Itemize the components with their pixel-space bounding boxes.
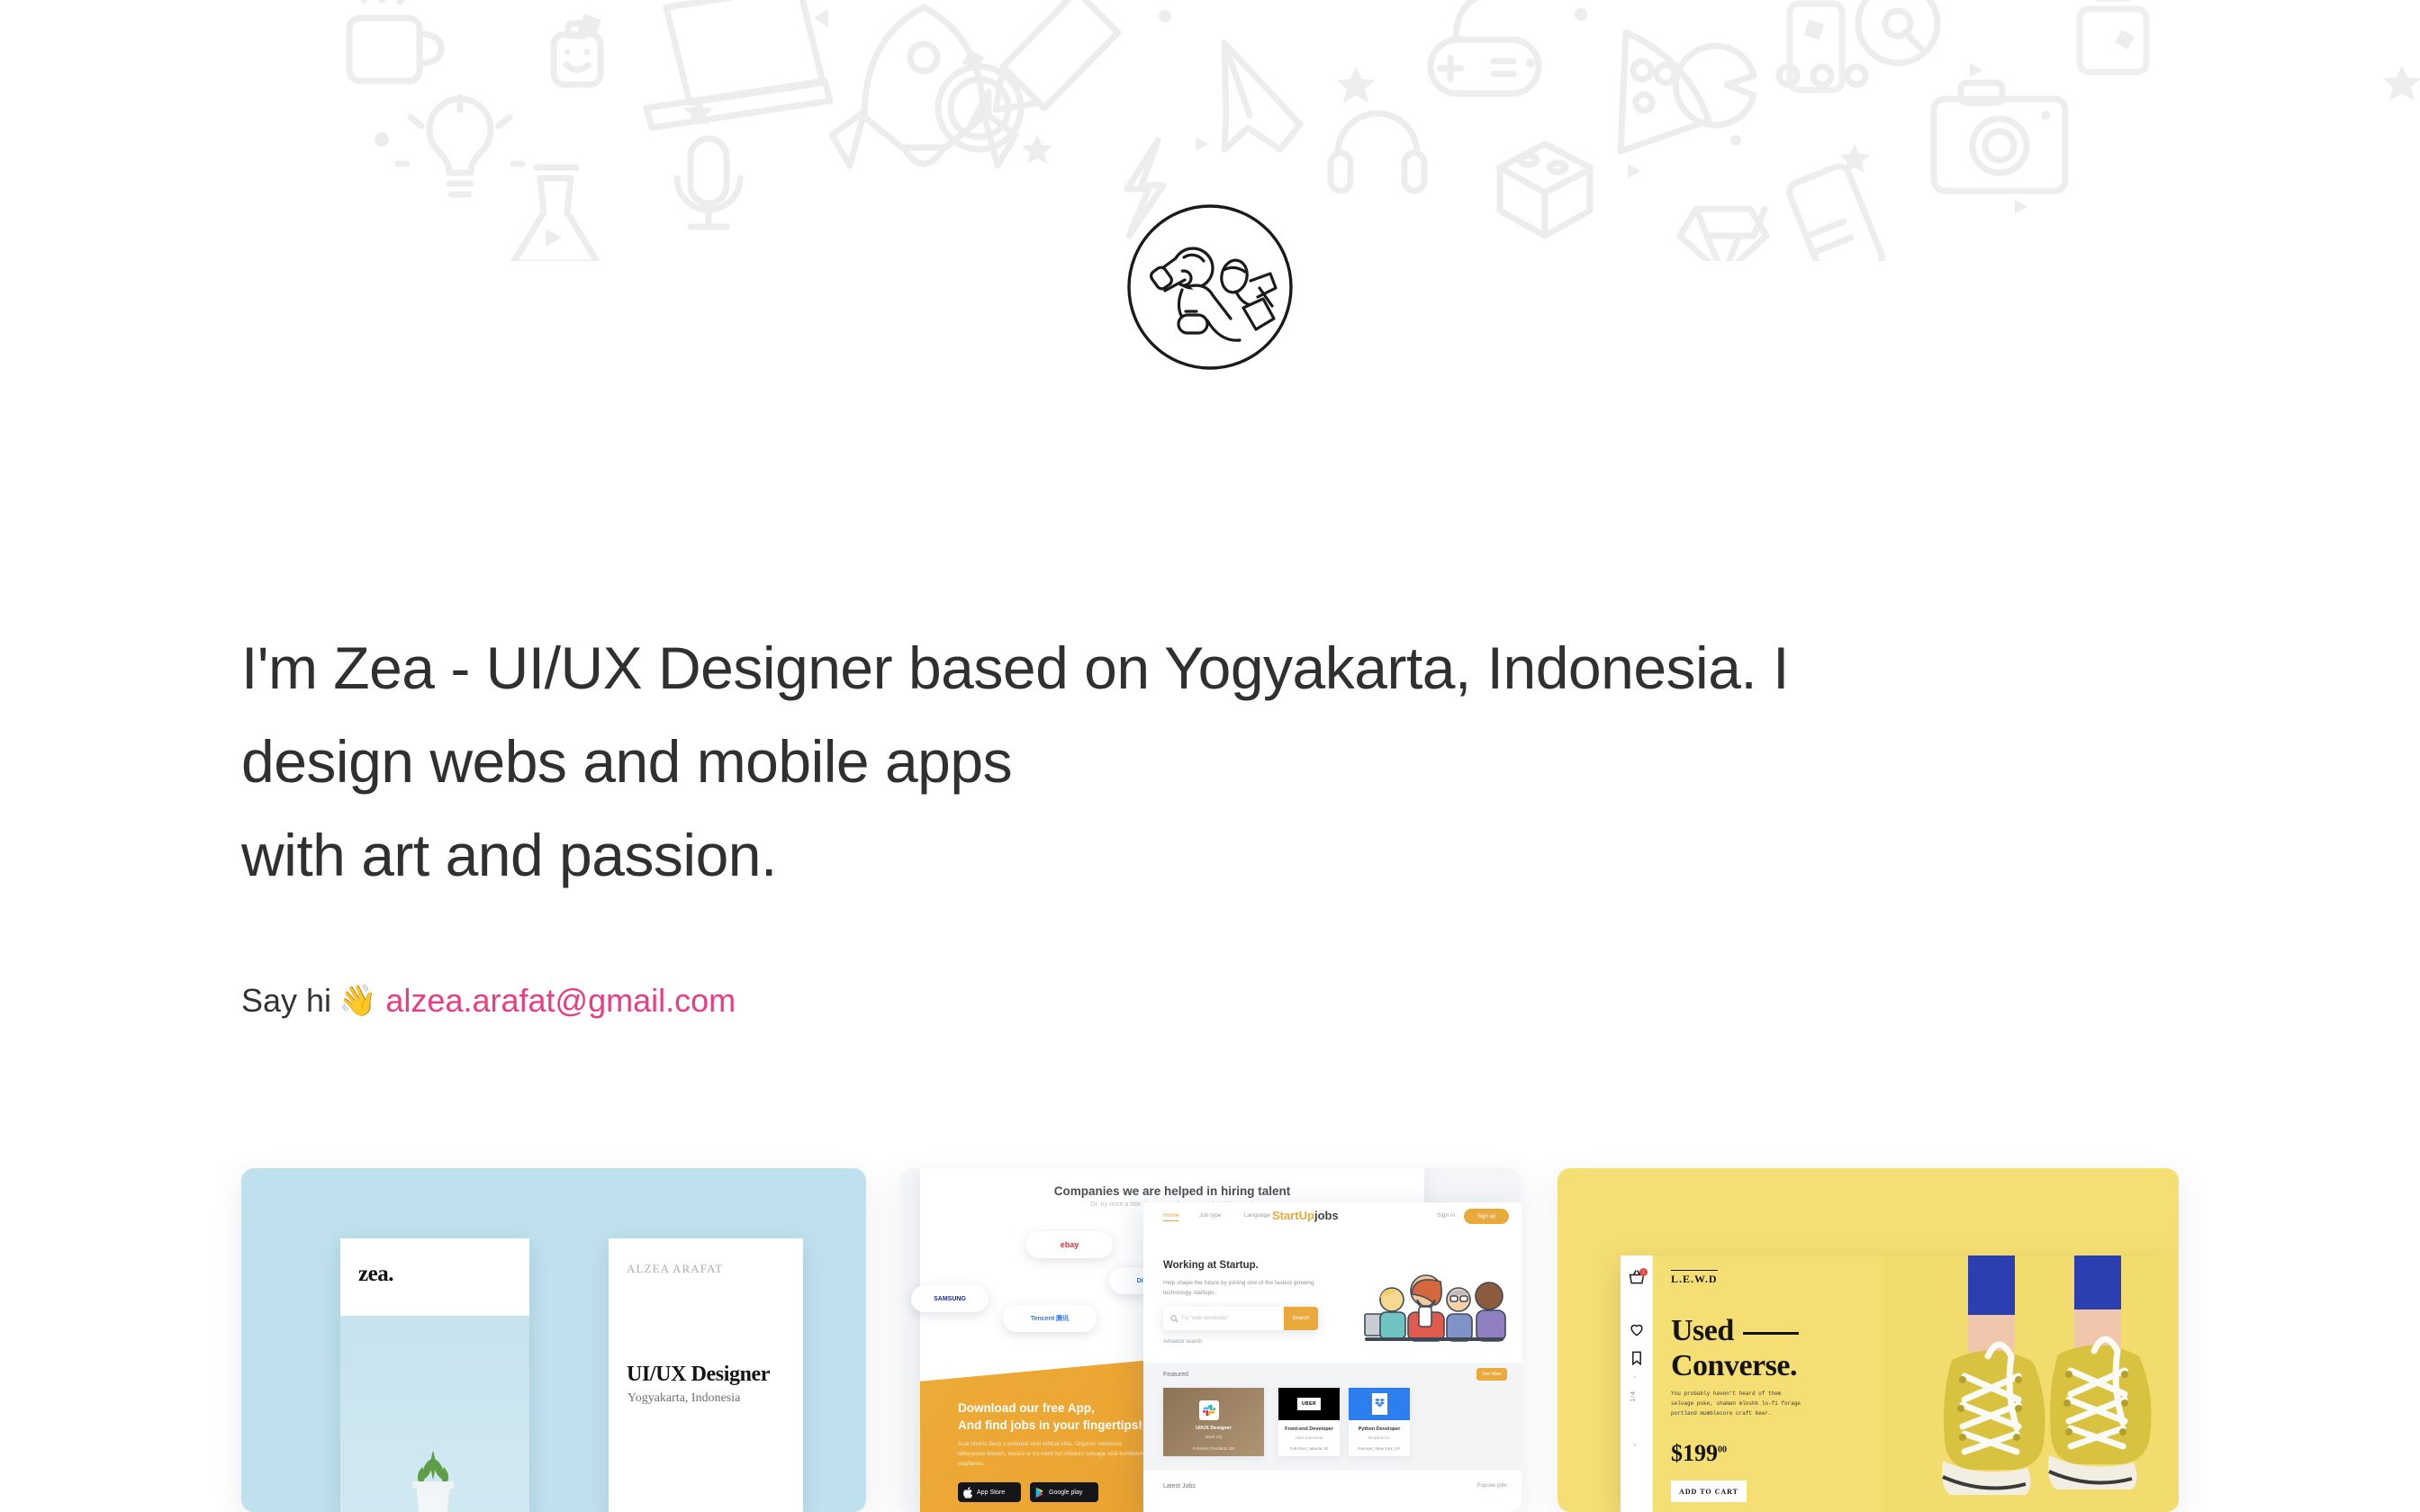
- headline-line-1: I'm Zea - UI/UX Designer based on Yogyak…: [241, 634, 1789, 701]
- email-link[interactable]: alzea.arafat@gmail.com: [385, 981, 736, 1021]
- compass-icon: [938, 67, 1021, 149]
- google-play-icon: [1035, 1487, 1045, 1498]
- job-meta: Remote | New York, NY: [1349, 1446, 1410, 1451]
- headline-line-3: with art and passion.: [241, 808, 2132, 902]
- app-store-label: App Store: [977, 1489, 1005, 1496]
- diamond-icon: [1680, 209, 1766, 261]
- featured-label: Featured: [1163, 1372, 1188, 1378]
- price-main: $199: [1671, 1440, 1718, 1466]
- product-title: Used Converse.: [1671, 1313, 1799, 1383]
- logo-part-b: jobs: [1314, 1209, 1339, 1222]
- app-store-badge[interactable]: App Store: [958, 1482, 1021, 1502]
- job-card-1[interactable]: UBER Front-end Developer Uber Indonesia …: [1278, 1388, 1340, 1456]
- project-card-branding[interactable]: zea. ALZEA: [241, 1168, 866, 1512]
- smartphone-icon: [1790, 4, 1842, 90]
- job-title: UI/UX Designer: [1163, 1426, 1264, 1431]
- google-play-label: Google play: [1049, 1489, 1082, 1496]
- job-card-0[interactable]: UI/UX Designer Slack HQ Full-time | Port…: [1163, 1388, 1264, 1456]
- add-to-cart-button[interactable]: ADD TO CART: [1671, 1480, 1747, 1502]
- astronaut-icon: [1149, 248, 1276, 340]
- camera-icon: [1934, 83, 2065, 191]
- rocket-icon: [832, 7, 1016, 166]
- chevron-up-icon[interactable]: ^: [1633, 1376, 1636, 1382]
- product-description: You probably haven't heard of them selva…: [1671, 1389, 1806, 1418]
- job-title: Python Developer: [1349, 1426, 1410, 1432]
- price-cents: 00: [1718, 1444, 1727, 1454]
- business-card-back: ALZEA ARAFAT UI/UX Designer Yogyakarta, …: [609, 1238, 803, 1512]
- featured-jobs-section: Featured See More UI/UX Desig: [1143, 1363, 1522, 1471]
- project-card-startupjobs[interactable]: Companies we are helped in hiring talent…: [900, 1168, 1522, 1512]
- title-dash: [1743, 1332, 1799, 1335]
- nav-item-job-type[interactable]: Job type: [1199, 1212, 1222, 1219]
- gamepad-icon: [1431, 0, 1540, 94]
- lightbulb-icon: [398, 97, 522, 194]
- lewd-shop-mockup: 1 ^ 1/4 ˅ L.E.W.D Used Converse. You: [1621, 1255, 2179, 1512]
- pencil-icon: [996, 0, 1118, 110]
- lego-head-icon: [554, 23, 600, 85]
- site-logo[interactable]: [1124, 202, 1296, 373]
- hero-title: Working at Startup.: [1163, 1260, 1259, 1271]
- advance-search-link[interactable]: Advance search: [1163, 1339, 1202, 1345]
- cd-icon: [1858, 0, 1937, 63]
- job-title: Front-end Developer: [1278, 1426, 1340, 1432]
- signup-button[interactable]: Sign up: [1464, 1209, 1509, 1224]
- project-card-lewd-shop[interactable]: 1 ^ 1/4 ˅ L.E.W.D Used Converse. You: [1558, 1168, 2179, 1512]
- bookmark-icon: [1628, 1349, 1646, 1367]
- search-input-placeholder: Try "web developer": [1181, 1316, 1229, 1321]
- nav-item-home[interactable]: Home: [1163, 1212, 1178, 1221]
- startupjobs-front-panel: Home Job type Language StartUpjobs Sign …: [1143, 1202, 1522, 1512]
- microphone-icon: [677, 139, 740, 227]
- job-company: Dropbox Inc: [1349, 1435, 1410, 1440]
- job-search-bar[interactable]: Try "web developer" Search: [1163, 1307, 1318, 1330]
- site-nav: Home Job type Language StartUpjobs Sign …: [1143, 1202, 1522, 1231]
- hero-subtitle: Help shape the future by joining one of …: [1163, 1278, 1321, 1298]
- search-button[interactable]: Search: [1284, 1307, 1318, 1330]
- person-name: ALZEA ARAFAT: [627, 1262, 723, 1276]
- company-pill-tencent: Tencent 腾讯: [1003, 1305, 1097, 1332]
- leg-right: [2074, 1255, 2121, 1353]
- job-company: Slack HQ: [1163, 1435, 1264, 1439]
- coffee-mug-icon: [349, 0, 441, 81]
- dot-icon: [375, 8, 1741, 147]
- job-thumbnail: [1349, 1388, 1410, 1420]
- startupjobs-logo[interactable]: StartUpjobs: [1272, 1209, 1339, 1222]
- google-play-badge[interactable]: Google play: [1030, 1482, 1098, 1502]
- pacman-icon: [1675, 46, 1865, 125]
- laptop-icon: [2080, 0, 2146, 72]
- companies-title: Companies we are helped in hiring talent: [920, 1184, 1424, 1198]
- promo-title-line-1: Download our free App,: [958, 1401, 1095, 1415]
- brand-logo-text: zea.: [358, 1262, 393, 1287]
- contact-label: Say hi: [241, 981, 331, 1021]
- project-cards-row: zea. ALZEA: [0, 1168, 2420, 1512]
- job-thumbnail: UBER: [1278, 1388, 1340, 1420]
- popular-jobs-filter[interactable]: Popular jobs: [1477, 1483, 1507, 1489]
- contact-line: Say hi 👋 alzea.arafat@gmail.com: [241, 981, 736, 1021]
- dropbox-logo-icon: [1372, 1393, 1387, 1415]
- product-price: $19900: [1671, 1440, 1727, 1467]
- headphones-icon: [1331, 113, 1424, 191]
- uber-logo-icon: UBER: [1297, 1398, 1321, 1410]
- flask-icon: [513, 167, 598, 261]
- portfolio-page: I'm Zea - UI/UX Designer based on Yogyak…: [0, 0, 2420, 1512]
- business-card-front: zea.: [340, 1238, 529, 1512]
- converse-shoes-photo: [1882, 1255, 2179, 1512]
- shop-sidebar-rail: 1 ^ 1/4 ˅: [1621, 1255, 1653, 1512]
- person-role: UI/UX Designer: [627, 1363, 770, 1387]
- carousel-pagination: 1/4: [1630, 1390, 1637, 1402]
- card-photo: [340, 1316, 529, 1512]
- job-meta: Full-time | Jakarta, ID: [1278, 1446, 1340, 1451]
- logo-part-a: StartUp: [1272, 1209, 1314, 1222]
- apple-icon: [963, 1487, 973, 1498]
- promo-title-line-2: And find jobs in your fingertips!: [958, 1418, 1142, 1432]
- shop-brand-logo: L.E.W.D: [1671, 1270, 1718, 1286]
- company-pill-ebay: ebay: [1026, 1231, 1113, 1258]
- product-title-line-1: Used: [1671, 1314, 1734, 1347]
- laptop-icon: [646, 0, 830, 128]
- job-meta: Full-time | Portland, OR: [1163, 1446, 1264, 1451]
- paper-plane-icon: [1224, 43, 1300, 149]
- slack-logo-icon: [1199, 1400, 1219, 1420]
- signin-link[interactable]: Sign in: [1437, 1212, 1455, 1219]
- heart-icon: [1628, 1320, 1646, 1338]
- page-headline: I'm Zea - UI/UX Designer based on Yogyak…: [241, 621, 2132, 902]
- search-icon: [1170, 1315, 1178, 1323]
- headline-line-2: design webs and mobile apps: [241, 715, 2132, 808]
- job-company: Uber Indonesia: [1278, 1435, 1340, 1440]
- see-more-button[interactable]: See More: [1476, 1368, 1507, 1381]
- leg-left: [1968, 1255, 2015, 1356]
- pizza-icon: [1621, 32, 1709, 151]
- dropbox-icon: [1375, 1398, 1385, 1408]
- nav-item-language[interactable]: Language: [1244, 1212, 1270, 1219]
- company-pill-samsung: SAMSUNG: [911, 1285, 989, 1312]
- chevron-down-icon[interactable]: ˅: [1633, 1443, 1637, 1449]
- product-title-line-2: Converse.: [1671, 1349, 1797, 1382]
- cart-count-badge: 1: [1639, 1268, 1648, 1276]
- person-location: Yogyakarta, Indonesia: [628, 1391, 740, 1406]
- star-icon: [683, 65, 2420, 173]
- smartphone-icon: [1786, 163, 1885, 261]
- slack-icon: [1203, 1404, 1215, 1417]
- latest-jobs-label: Latest Jobs: [1163, 1483, 1196, 1489]
- waving-hand-icon: 👋: [339, 985, 376, 1016]
- job-card-2[interactable]: Python Developer Dropbox Inc Remote | Ne…: [1349, 1388, 1410, 1456]
- lego-brick-icon: [1500, 144, 1590, 236]
- plant-illustration: [394, 1435, 472, 1512]
- square-icon: [578, 13, 2135, 71]
- promo-subtitle: Acai shorts deep v polaroid viral ethica…: [958, 1439, 1147, 1469]
- team-illustration: [1352, 1267, 1514, 1345]
